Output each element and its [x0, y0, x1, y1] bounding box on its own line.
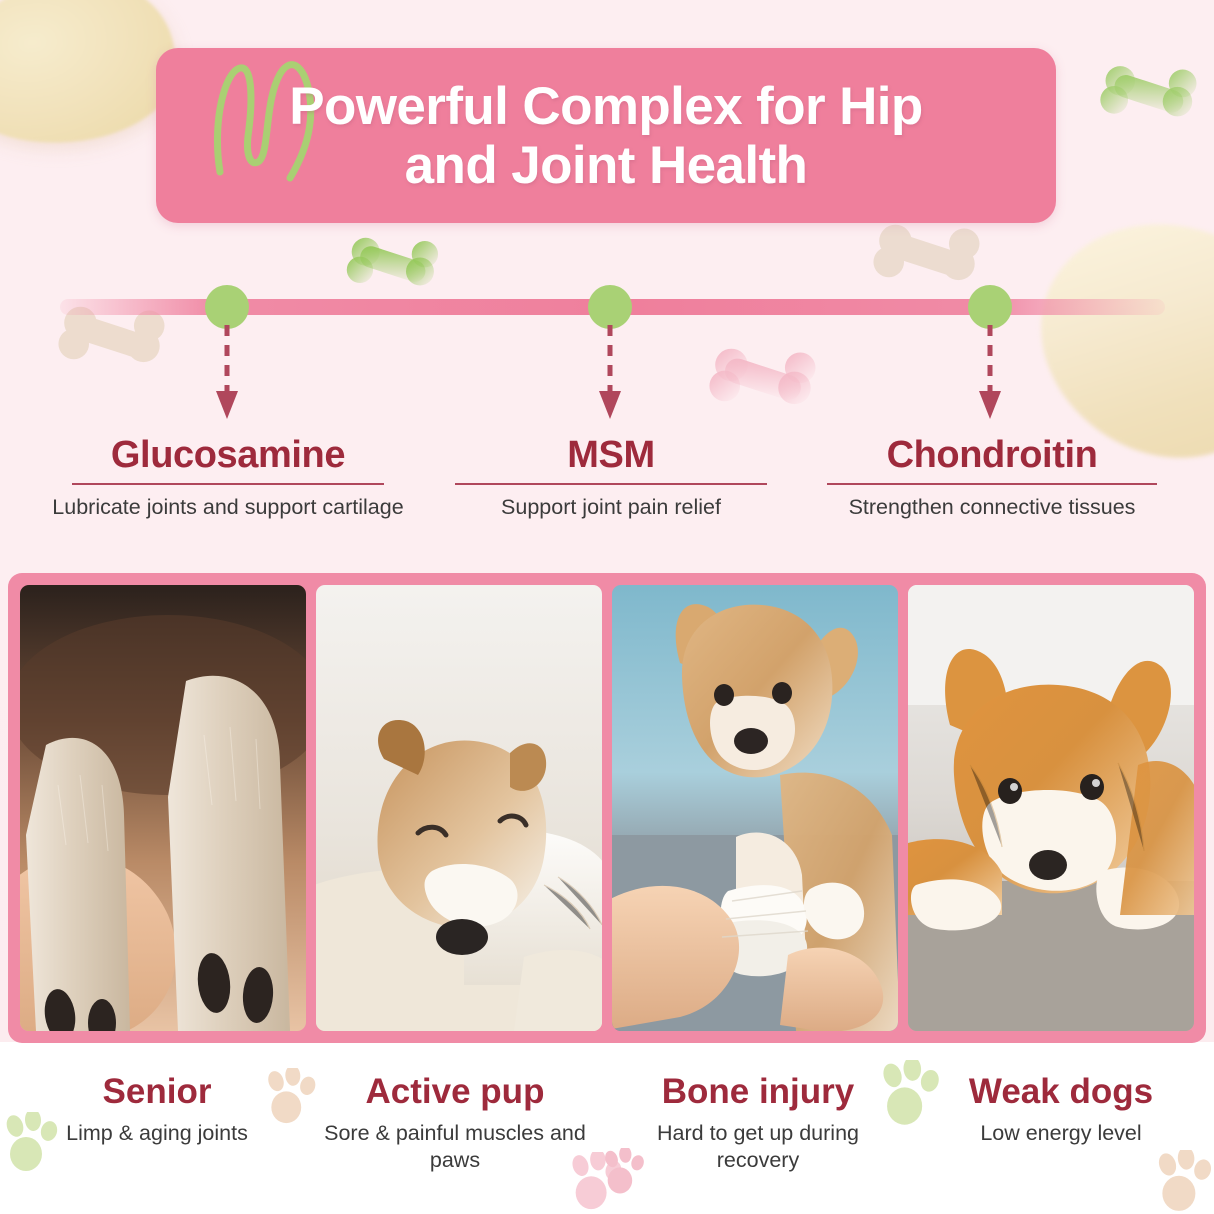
photo-active-pup — [316, 585, 602, 1031]
use-case-title: Bone injury — [616, 1074, 900, 1109]
use-case-description: Limp & aging joints — [22, 1120, 292, 1147]
timeline-node-msm — [588, 285, 632, 425]
ingredient-name: Glucosamine — [48, 436, 408, 474]
ingredient-description: Lubricate joints and support cartilage — [48, 494, 408, 521]
ingredient-msm: MSM Support joint pain relief — [438, 436, 784, 521]
arrow-down-icon — [215, 325, 239, 421]
node-dot-green — [205, 285, 249, 329]
infographic-canvas: Powerful Complex for Hip and Joint Healt… — [0, 0, 1214, 1214]
page-title-line2: and Joint Health — [156, 136, 1056, 195]
use-case-description: Hard to get up during recovery — [616, 1120, 900, 1173]
node-dot-green — [588, 285, 632, 329]
ingredient-name: MSM — [438, 436, 784, 474]
ingredient-description: Support joint pain relief — [438, 494, 784, 521]
use-case-bone-injury: Bone injury Hard to get up during recove… — [616, 1074, 900, 1173]
arrow-down-icon — [978, 325, 1002, 421]
photo-senior-paws — [20, 585, 306, 1031]
use-case-description: Low energy level — [928, 1120, 1194, 1147]
use-case-title: Senior — [22, 1074, 292, 1109]
ingredient-name: Chondroitin — [818, 436, 1166, 474]
photo-grid — [8, 573, 1206, 1043]
photo-bone-injury — [612, 585, 898, 1031]
ingredient-chondroitin: Chondroitin Strengthen connective tissue… — [818, 436, 1166, 521]
ingredient-glucosamine: Glucosamine Lubricate joints and support… — [48, 436, 408, 521]
use-case-description: Sore & painful muscles and paws — [310, 1120, 600, 1173]
use-case-title: Active pup — [310, 1074, 600, 1109]
ingredient-rule — [827, 483, 1157, 485]
use-case-active-pup: Active pup Sore & painful muscles and pa… — [310, 1074, 600, 1173]
ingredient-rule — [72, 483, 384, 485]
timeline-node-chondroitin — [968, 285, 1012, 425]
bone-icon-green-mid — [342, 232, 442, 306]
photo-weak-dog — [908, 585, 1194, 1031]
use-case-title: Weak dogs — [928, 1074, 1194, 1109]
header-banner: Powerful Complex for Hip and Joint Healt… — [156, 48, 1056, 223]
ingredient-description: Strengthen connective tissues — [818, 494, 1166, 521]
paw-print-icon-peach-right — [1152, 1150, 1214, 1214]
node-dot-green — [968, 285, 1012, 329]
page-title-line1: Powerful Complex for Hip — [156, 77, 1056, 136]
use-case-senior: Senior Limp & aging joints — [22, 1074, 292, 1147]
bone-icon-pink-mid — [704, 342, 820, 428]
page-title: Powerful Complex for Hip and Joint Healt… — [156, 48, 1056, 196]
ingredient-rule — [455, 483, 767, 485]
arrow-down-icon — [598, 325, 622, 421]
bone-icon-green-topright — [1096, 60, 1200, 138]
timeline-node-glucosamine — [205, 285, 249, 425]
use-case-weak-dogs: Weak dogs Low energy level — [928, 1074, 1194, 1147]
